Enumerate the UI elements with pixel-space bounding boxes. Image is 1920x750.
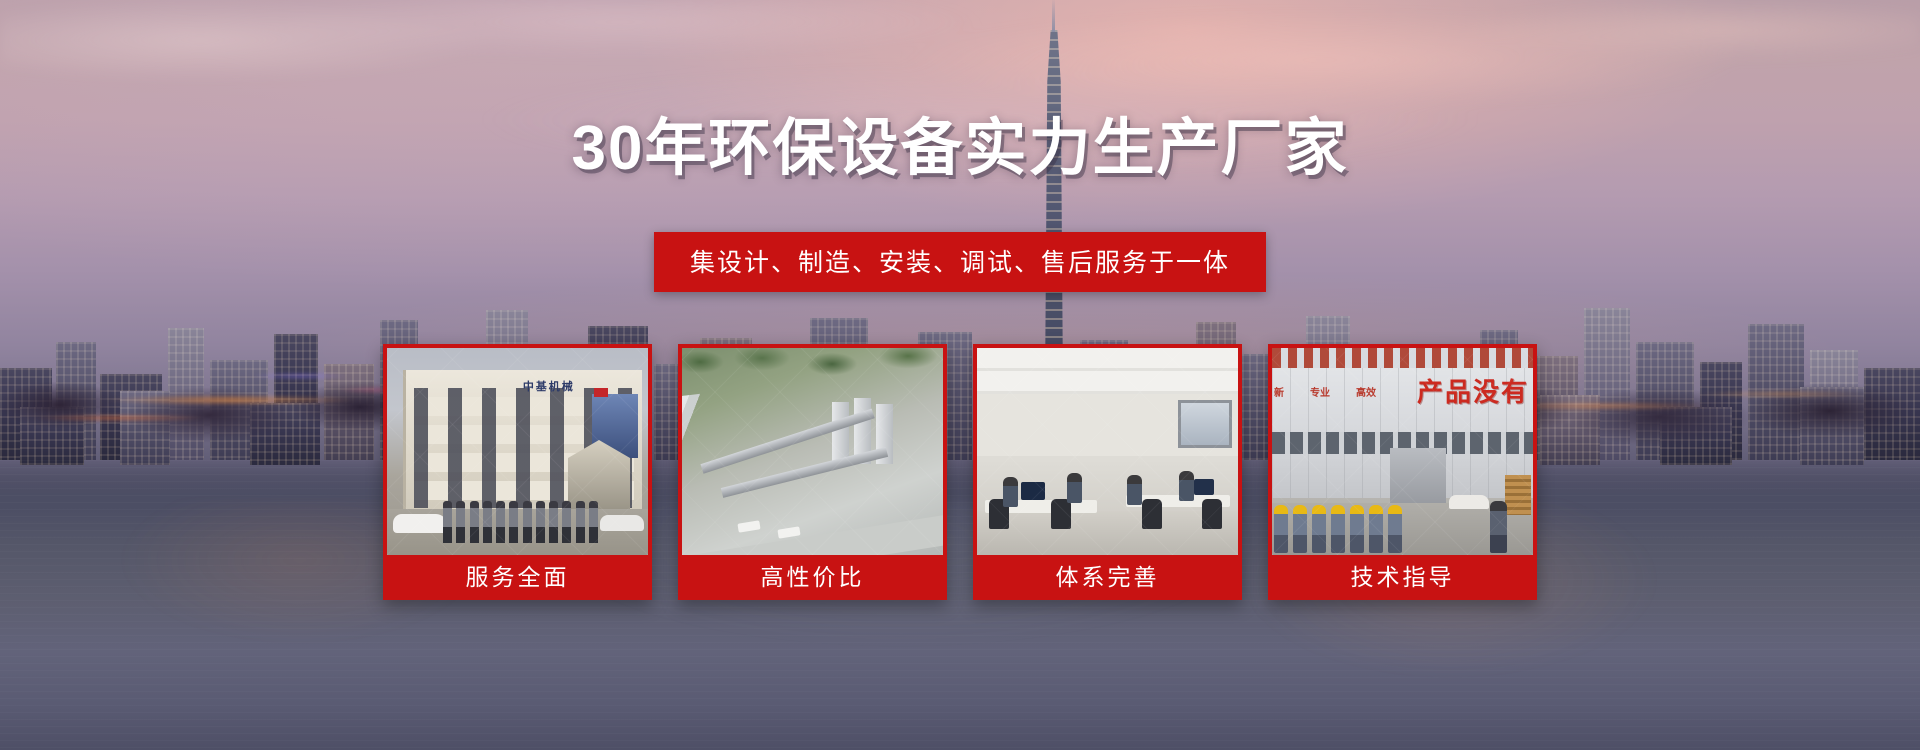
feature-card-value[interactable]: 高性价比: [678, 344, 947, 600]
company-sign-text: 中基机械: [523, 378, 575, 394]
feature-card-label: 技术指导: [1272, 555, 1533, 600]
feature-card-list: 中基机械 服务全面: [383, 344, 1537, 600]
factory-slogan-3: 高效: [1356, 388, 1376, 400]
tower-spire: [1052, 0, 1055, 32]
feature-card-service[interactable]: 中基机械 服务全面: [383, 344, 652, 600]
office-interior-meeting-photo: [977, 348, 1238, 555]
feature-card-system[interactable]: 体系完善: [973, 344, 1242, 600]
factory-slogan-1: 新: [1274, 388, 1284, 400]
feature-card-label: 高性价比: [682, 555, 943, 600]
feature-card-label: 体系完善: [977, 555, 1238, 600]
factory-wall-banner-text: 产品没有: [1417, 372, 1529, 409]
factory-exterior-workers-photo: 新 专业 高效 产品没有: [1272, 348, 1533, 555]
page-title: 30年环保设备实力生产厂家: [0, 118, 1920, 180]
office-building-with-staff-photo: 中基机械: [387, 348, 648, 555]
hero-banner: 30年环保设备实力生产厂家 集设计、制造、安装、调试、售后服务于一体 中基机械: [0, 0, 1920, 750]
factory-slogan-2: 专业: [1310, 388, 1330, 400]
feature-card-guidance[interactable]: 新 专业 高效 产品没有 技术指导: [1268, 344, 1537, 600]
feature-card-label: 服务全面: [387, 555, 648, 600]
aerial-factory-plant-photo: [682, 348, 943, 555]
subtitle-banner: 集设计、制造、安装、调试、售后服务于一体: [654, 232, 1266, 292]
